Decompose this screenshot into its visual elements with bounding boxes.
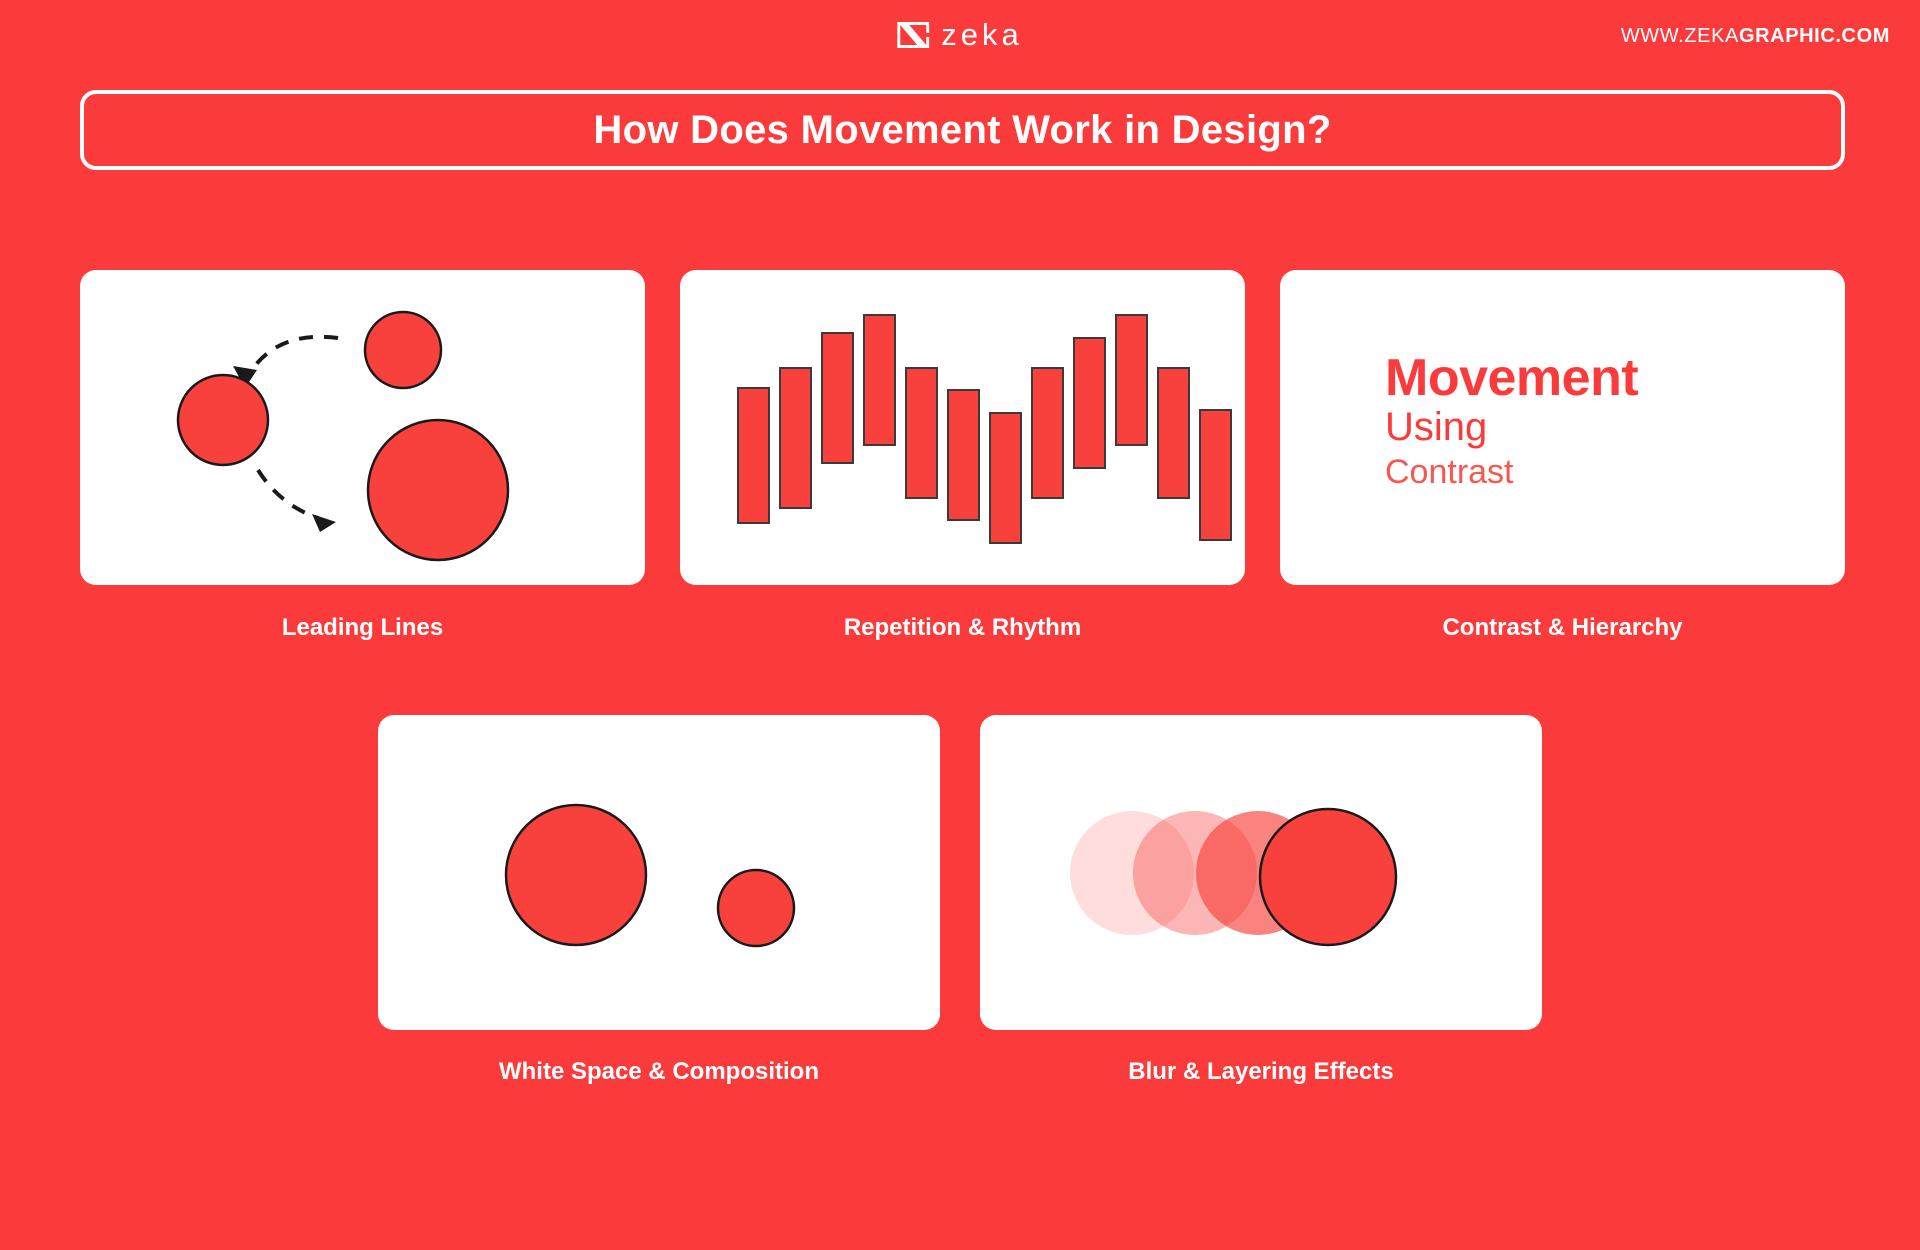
card-blur[interactable] [980, 715, 1542, 1030]
circle-small [718, 870, 794, 946]
page-header: zeka WWW.ZEKAGRAPHIC.COM [0, 0, 1920, 72]
card-leading-lines[interactable] [80, 270, 645, 585]
page-title: How Does Movement Work in Design? [593, 108, 1331, 153]
site-url-bold: GRAPHIC.COM [1739, 25, 1890, 47]
repetition-rhythm-illustration [680, 270, 1245, 585]
leading-lines-illustration [80, 270, 645, 585]
blur-layering-illustration [980, 715, 1542, 1030]
white-space-illustration [378, 715, 940, 1030]
card-label-repetition: Repetition & Rhythm [680, 614, 1245, 642]
page-title-box: How Does Movement Work in Design? [80, 90, 1845, 170]
circle-small [365, 312, 441, 388]
dashed-arrow-path-2 [258, 470, 318, 518]
circle-medium [178, 375, 268, 465]
arrowhead-2 [312, 514, 336, 532]
card-contrast[interactable]: Movement Using Contrast [1280, 270, 1845, 585]
zeka-flag-icon [897, 22, 929, 48]
contrast-type-hierarchy: Movement Using Contrast [1385, 352, 1638, 494]
card-whitespace[interactable] [378, 715, 940, 1030]
card-label-leading-lines: Leading Lines [80, 614, 645, 642]
contrast-line-using: Using [1385, 404, 1487, 451]
card-label-whitespace: White Space & Composition [378, 1058, 940, 1086]
site-url[interactable]: WWW.ZEKAGRAPHIC.COM [1621, 25, 1890, 48]
card-repetition[interactable] [680, 270, 1245, 585]
contrast-line-movement: Movement [1385, 352, 1638, 404]
card-label-contrast: Contrast & Hierarchy [1280, 614, 1845, 642]
circle-large [506, 805, 646, 945]
rhythm-bar [1116, 315, 1147, 445]
dashed-arrow-path-1 [248, 337, 338, 376]
rhythm-bar [1032, 368, 1063, 498]
card-label-blur: Blur & Layering Effects [980, 1058, 1542, 1086]
site-url-light: WWW.ZEKA [1621, 25, 1739, 47]
rhythm-bar [1074, 338, 1105, 468]
rhythm-bar [906, 368, 937, 498]
rhythm-bar [1158, 368, 1189, 498]
brand-logo[interactable]: zeka [897, 22, 1022, 48]
rhythm-bar [780, 368, 811, 508]
brand-logo-text: zeka [941, 22, 1022, 48]
contrast-line-contrast: Contrast [1385, 451, 1514, 494]
circle-large [368, 420, 508, 560]
rhythm-bar [864, 315, 895, 445]
rhythm-bar [822, 333, 853, 463]
rhythm-bar [948, 390, 979, 520]
rhythm-bar [990, 413, 1021, 543]
rhythm-bar [738, 388, 769, 523]
rhythm-bar [1200, 410, 1231, 540]
layer-circle-4-outlined [1260, 809, 1396, 945]
